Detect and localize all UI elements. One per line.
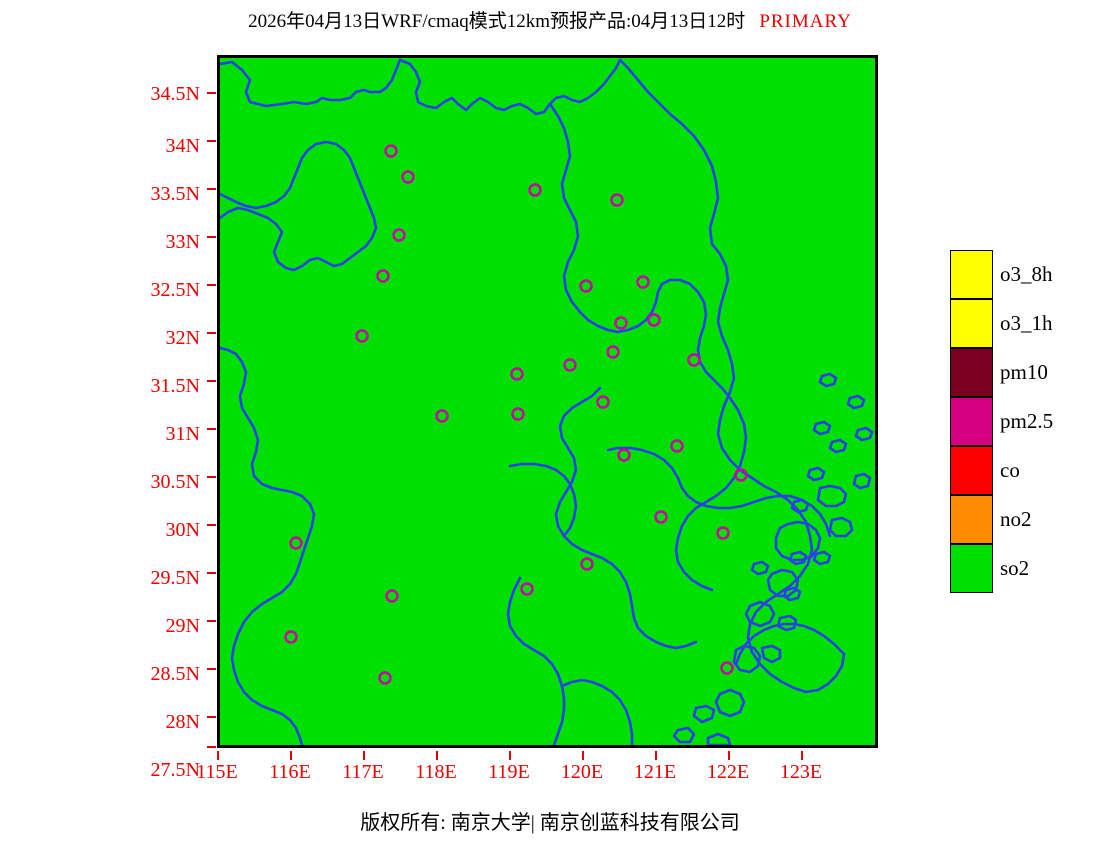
x-tick-label: 115E xyxy=(177,762,257,782)
y-tick-label: 34.5N xyxy=(122,84,200,104)
legend-swatch xyxy=(950,299,993,348)
x-tick-label: 121E xyxy=(615,762,695,782)
legend-label: so2 xyxy=(1000,556,1029,580)
y-tick-label: 30N xyxy=(122,520,200,540)
legend-swatch xyxy=(950,397,993,446)
y-tick-mark xyxy=(207,716,216,718)
copyright-footer: 版权所有: 南京大学| 南京创蓝科技有限公司 xyxy=(0,810,1100,836)
y-tick-label: 32N xyxy=(122,328,200,348)
y-tick-mark xyxy=(207,236,216,238)
legend-label: o3_1h xyxy=(1000,311,1053,335)
y-tick-label: 28.5N xyxy=(122,664,200,684)
primary-pollutant-field xyxy=(220,58,875,745)
y-tick-mark xyxy=(207,668,216,670)
y-tick-label: 34N xyxy=(122,136,200,156)
title-primary-badge: PRIMARY xyxy=(759,11,852,32)
legend-swatch xyxy=(950,348,993,397)
y-tick-label: 30.5N xyxy=(122,472,200,492)
title-main-text: 2026年04月13日WRF/cmaq模式12km预报产品:04月13日12时 xyxy=(248,11,745,32)
legend-swatch xyxy=(950,495,993,544)
x-tick-label: 117E xyxy=(323,762,403,782)
legend-label: co xyxy=(1000,458,1020,482)
x-tick-label: 122E xyxy=(688,762,768,782)
x-tick-mark xyxy=(655,751,657,760)
x-tick-mark xyxy=(582,751,584,760)
x-tick-mark xyxy=(728,751,730,760)
x-tick-label: 119E xyxy=(469,762,549,782)
map-plot-area[interactable] xyxy=(217,55,878,748)
x-tick-label: 123E xyxy=(761,762,841,782)
y-tick-mark xyxy=(207,524,216,526)
y-tick-label: 33N xyxy=(122,232,200,252)
y-tick-label: 29.5N xyxy=(122,568,200,588)
legend-swatch xyxy=(950,544,993,593)
x-tick-mark xyxy=(509,751,511,760)
x-tick-mark xyxy=(436,751,438,760)
x-tick-mark xyxy=(217,751,219,760)
y-tick-mark xyxy=(207,476,216,478)
y-tick-mark xyxy=(207,92,216,94)
x-tick-mark xyxy=(801,751,803,760)
y-tick-mark xyxy=(207,380,216,382)
y-tick-mark xyxy=(207,140,216,142)
y-tick-mark xyxy=(207,620,216,622)
x-tick-mark xyxy=(290,751,292,760)
legend-swatch xyxy=(950,250,993,299)
y-tick-label: 32.5N xyxy=(122,280,200,300)
legend-label: pm2.5 xyxy=(1000,409,1053,433)
x-tick-label: 118E xyxy=(396,762,476,782)
y-tick-mark xyxy=(207,746,216,748)
y-tick-label: 31.5N xyxy=(122,376,200,396)
legend-label: o3_8h xyxy=(1000,262,1053,286)
x-tick-label: 120E xyxy=(542,762,622,782)
chart-title: 2026年04月13日WRF/cmaq模式12km预报产品:04月13日12时P… xyxy=(0,10,1100,34)
y-tick-label: 29N xyxy=(122,616,200,636)
y-tick-label: 31N xyxy=(122,424,200,444)
legend-label: pm10 xyxy=(1000,360,1048,384)
y-tick-mark xyxy=(207,332,216,334)
y-tick-label: 28N xyxy=(122,712,200,732)
y-tick-mark xyxy=(207,188,216,190)
x-tick-mark xyxy=(363,751,365,760)
legend-swatch xyxy=(950,446,993,495)
y-tick-label: 33.5N xyxy=(122,184,200,204)
y-tick-mark xyxy=(207,428,216,430)
x-tick-label: 116E xyxy=(250,762,330,782)
legend-label: no2 xyxy=(1000,507,1032,531)
y-tick-mark xyxy=(207,572,216,574)
y-tick-mark xyxy=(207,284,216,286)
map-vector-layer xyxy=(220,58,875,745)
